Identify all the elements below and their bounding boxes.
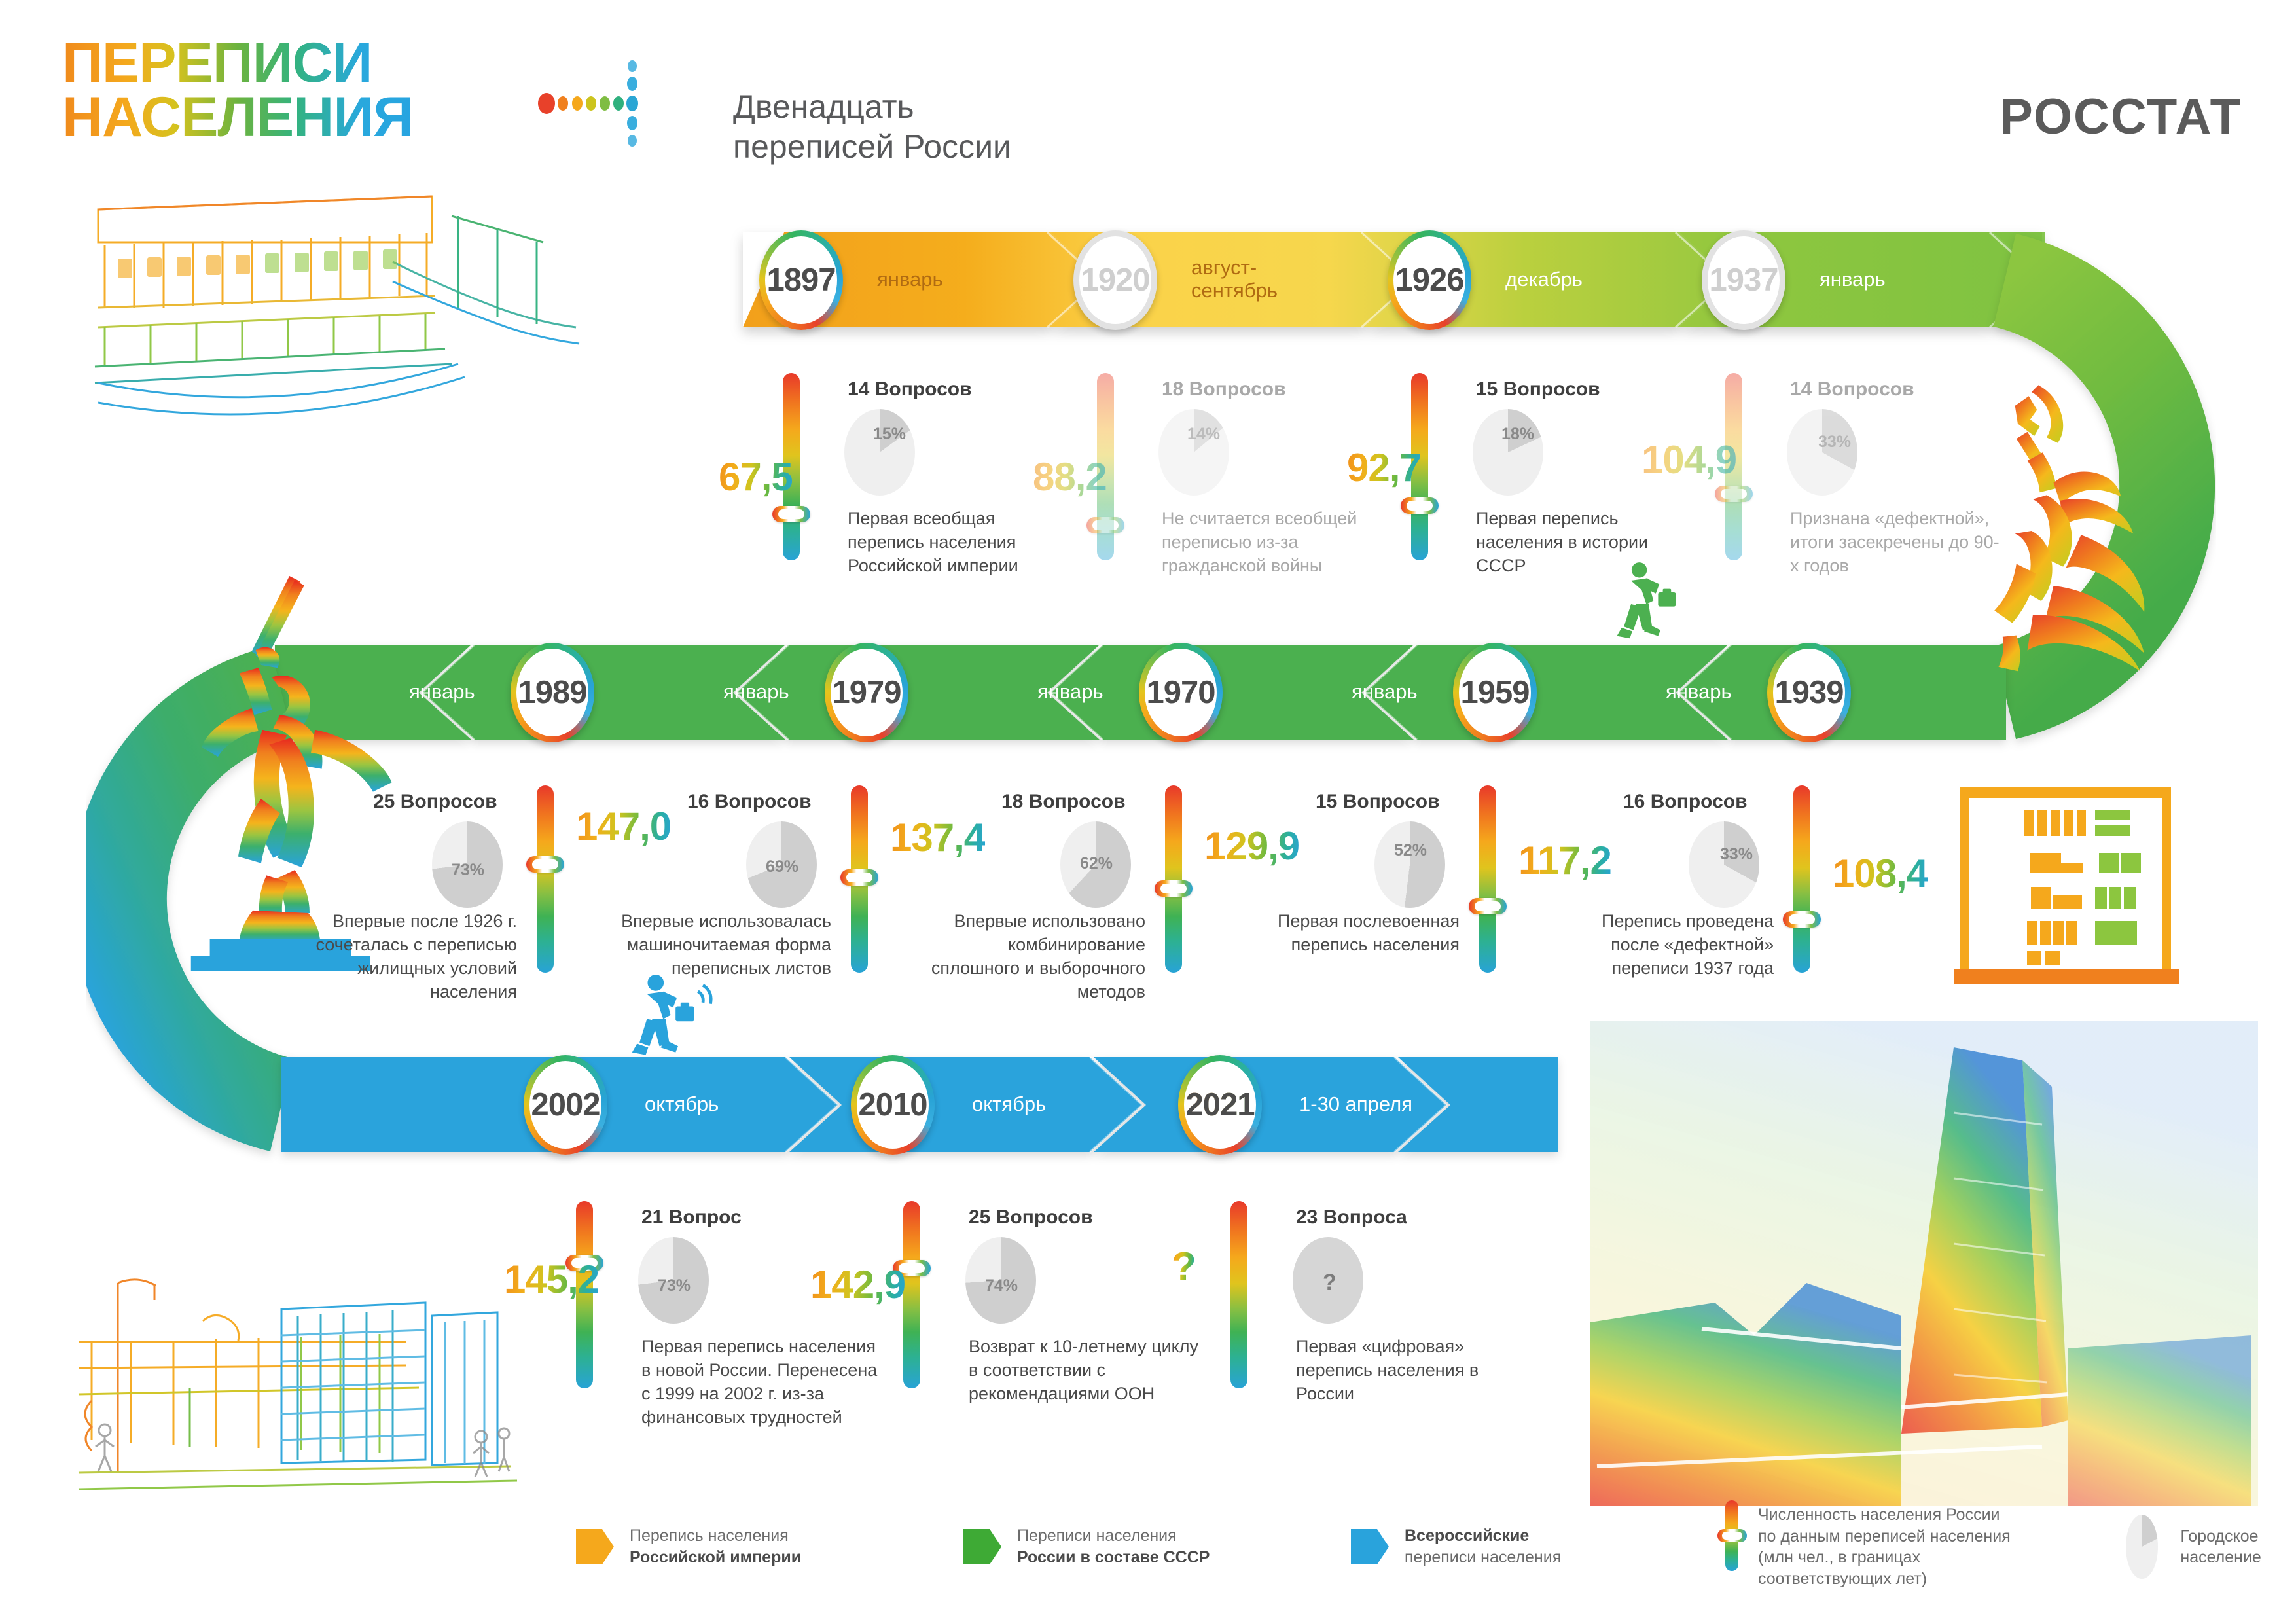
questions-count: 21 Вопрос [641,1206,742,1229]
year-label: 1920 [1073,230,1157,330]
month-label-2021: 1-30 апреля [1299,1093,1412,1116]
city-tower-illustration [1590,1021,2258,1506]
legend-label: Перепись населения Российской империи [630,1525,801,1568]
population-bar [903,1201,920,1388]
legend-line1: Переписи населения [1017,1526,1177,1545]
legend-line2: по данным переписей населения [1758,1526,2011,1547]
legend-item-imperial: Перепись населения Российской империи [576,1525,801,1568]
year-pill-1959[interactable]: 1959 [1453,643,1537,742]
population-value: 92,7 [1347,445,1421,490]
legend-line1: Городское население [2180,1527,2261,1567]
questions-count: 15 Вопросов [1476,378,1600,401]
census-note: Первая «цифровая» перепись населения в Р… [1296,1335,1505,1406]
urban-pie-chart: 18% [1473,409,1543,496]
year-pill-1926[interactable]: 1926 [1388,230,1471,330]
questions-count: 23 Вопроса [1296,1206,1407,1229]
questions-count: 15 Вопросов [1316,791,1440,813]
census-note: Впервые использовалась машиночитаемая фо… [609,910,831,981]
logo-title-line1: ПЕРЕПИСИ [62,36,413,90]
census-note: Первая всеобщая перепись населения Росси… [848,507,1064,578]
legend-label: Численность населения России по данным п… [1758,1504,2011,1589]
year-label: 1897 [759,230,843,330]
year-pill-1970[interactable]: 1970 [1139,643,1223,742]
infographic-root: ПЕРЕПИСИ НАСЕЛЕНИЯ Двенадцать переписей … [0,0,2296,1624]
legend-item-population-bar: Численность населения России по данным п… [1725,1500,2011,1589]
year-label: 1939 [1767,643,1851,742]
year-label: 1989 [511,643,594,742]
legend-label: Городское население [2180,1526,2281,1568]
census-note: Впервые после 1926 г. сочеталась с переп… [295,910,517,1004]
legend-line2: России в составе СССР [1017,1547,1210,1568]
population-value: 142,9 [810,1262,905,1307]
urban-pie-chart: 73% [638,1237,709,1324]
legend-item-ussr: Переписи населения России в составе СССР [963,1525,1210,1568]
year-pill-2002[interactable]: 2002 [524,1055,607,1155]
year-pill-1897[interactable]: 1897 [759,230,843,330]
legend-line3: (млн чел., в границах [1758,1547,2011,1568]
legend-label: Переписи населения России в составе СССР [1017,1525,1210,1568]
month-label-1939: январь [1666,681,1732,704]
population-marker [772,506,810,522]
month-label-1897: январь [877,268,943,291]
chevron-orange-icon [576,1526,615,1567]
urban-pie-chart: 52% [1374,821,1445,908]
questions-count: 16 Вопросов [687,791,812,813]
urban-pie-chart: 74% [965,1237,1036,1324]
subtitle-line2: переписей России [733,127,1011,167]
population-marker [1783,911,1821,928]
census-note: Признана «дефектной», итоги засекречены … [1790,507,2006,578]
urban-percent: 74% [985,1276,1018,1295]
population-value: 88,2 [1033,454,1107,499]
urban-pie-chart: 33% [1689,821,1759,908]
page-subtitle: Двенадцать переписей России [733,87,1011,167]
population-value: 67,5 [719,454,793,499]
urban-percent: 69% [766,857,798,876]
population-value: 145,2 [504,1257,599,1302]
urban-percent: 73% [658,1276,691,1295]
gradient-bar-icon [1725,1500,1738,1571]
census-note: Первая послевоенная перепись населения [1244,910,1460,957]
street-people-sketch [96,1424,509,1477]
population-marker [1715,486,1753,502]
census-note: Не считается всеобщей переписью из-за гр… [1162,507,1378,578]
questions-count: 18 Вопросов [1162,378,1286,401]
year-label: 2021 [1178,1055,1262,1155]
logo-title-line2: НАСЕЛЕНИЯ [62,90,413,145]
month-label-1937: январь [1820,268,1886,291]
year-pill-2021[interactable]: 2021 [1178,1055,1262,1155]
year-pill-2010[interactable]: 2010 [851,1055,935,1155]
bridge-sketch-illustration [95,196,579,414]
month-label-1959: январь [1352,681,1418,704]
legend-line1: Численность населения России [1758,1504,2011,1526]
population-marker [1155,880,1193,897]
legend-line1: Всероссийские [1405,1525,1561,1547]
questions-count: 18 Вопросов [1001,791,1126,813]
legend-line1: Перепись населения [630,1526,789,1545]
urban-pie-chart: 62% [1060,821,1131,908]
urban-pie-chart: 73% [432,821,503,908]
month-label-2010: октябрь [972,1093,1046,1116]
urban-pie-chart: 15% [844,409,915,496]
rosstat-brand: РОССТАТ [2000,88,2242,145]
population-bar [1230,1201,1247,1388]
population-value: 129,9 [1204,823,1299,869]
year-label: 1970 [1139,643,1223,742]
urban-percent: 18% [1501,425,1534,444]
year-label: 1979 [825,643,908,742]
chevron-blue-icon [1351,1526,1390,1567]
legend-line4: соответствующих лет) [1758,1568,2011,1590]
population-bar [1793,785,1810,973]
year-label: 1926 [1388,230,1471,330]
population-value: ? [1172,1244,1196,1290]
population-marker [840,869,878,886]
urban-pie-chart: ? [1293,1237,1363,1324]
population-marker [1469,898,1507,914]
urban-percent: 33% [1720,845,1753,864]
month-label-1979: январь [723,681,789,704]
urban-pie-chart: 14% [1158,409,1229,496]
questions-count: 25 Вопросов [969,1206,1093,1229]
census-note: Впервые использовано комбинирование спло… [916,910,1145,1004]
month-label-1920: август- сентябрь [1191,257,1278,302]
year-label: 1959 [1453,643,1537,742]
year-label: 2002 [524,1055,607,1155]
month-label-2002: октябрь [645,1093,719,1116]
population-value: 104,9 [1641,437,1736,482]
worker-statue-illustration [1994,385,2144,671]
census-note: Перепись проведена после «дефектной» пер… [1558,910,1774,981]
population-value: 108,4 [1833,851,1928,896]
census-note: Первая перепись населения в новой России… [641,1335,884,1430]
year-label: 1937 [1702,230,1785,330]
questions-count: 14 Вопросов [1790,378,1914,401]
population-bar [1165,785,1182,973]
urban-pie-chart: 33% [1787,409,1857,496]
urban-percent: 62% [1080,854,1113,873]
year-pill-1979[interactable]: 1979 [825,643,908,742]
year-label: 2010 [851,1055,935,1155]
urban-percent: 33% [1818,433,1851,452]
panel-building-illustration [1954,787,2179,984]
census-taker-icon-2 [632,975,711,1055]
legend-item-urban: Городское население [2126,1515,2281,1579]
legend: Перепись населения Российской империи Пе… [576,1506,2016,1597]
population-value: 137,4 [890,815,985,860]
population-bar [1479,785,1496,973]
legend-line2: переписи населения [1405,1548,1561,1566]
year-pill-1920[interactable]: 1920 [1073,230,1157,330]
urban-percent: 52% [1394,841,1427,860]
month-label-1970: январь [1037,681,1103,704]
urban-percent: 15% [873,425,906,444]
street-sketch-illustration [79,1280,517,1489]
month-label-1926: декабрь [1505,268,1583,291]
population-value: 117,2 [1518,838,1611,883]
population-marker [1401,497,1439,514]
urban-percent: 73% [452,861,484,880]
logo-title: ПЕРЕПИСИ НАСЕЛЕНИЯ [62,36,413,145]
legend-line2: Российской империи [630,1547,801,1568]
population-marker [1086,517,1124,533]
urban-pie-chart: 69% [746,821,817,908]
questions-count: 25 Вопросов [373,791,497,813]
population-value: 147,0 [576,804,671,849]
year-pill-1989[interactable]: 1989 [511,643,594,742]
month-label-1989: январь [409,681,475,704]
census-note: Первая перепись населения в истории СССР [1476,507,1692,578]
population-bar [537,785,554,973]
chevron-green-icon [963,1526,1003,1567]
legend-item-russia: Всероссийские переписи населения [1351,1525,1561,1568]
questions-count: 14 Вопросов [848,378,972,401]
pie-gray-icon [2126,1515,2158,1579]
legend-label: Всероссийские переписи населения [1405,1525,1561,1568]
year-pill-1939[interactable]: 1939 [1767,643,1851,742]
questions-count: 16 Вопросов [1623,791,1748,813]
census-note: Возврат к 10-летнему циклу в соответстви… [969,1335,1211,1406]
page-header: ПЕРЕПИСИ НАСЕЛЕНИЯ Двенадцать переписей … [62,36,2242,160]
bar-marker-icon [1717,1529,1747,1542]
urban-percent: 14% [1187,425,1220,444]
urban-percent: ? [1323,1270,1336,1295]
subtitle-line1: Двенадцать [733,87,1011,127]
population-marker [526,856,564,873]
year-pill-1937[interactable]: 1937 [1702,230,1785,330]
